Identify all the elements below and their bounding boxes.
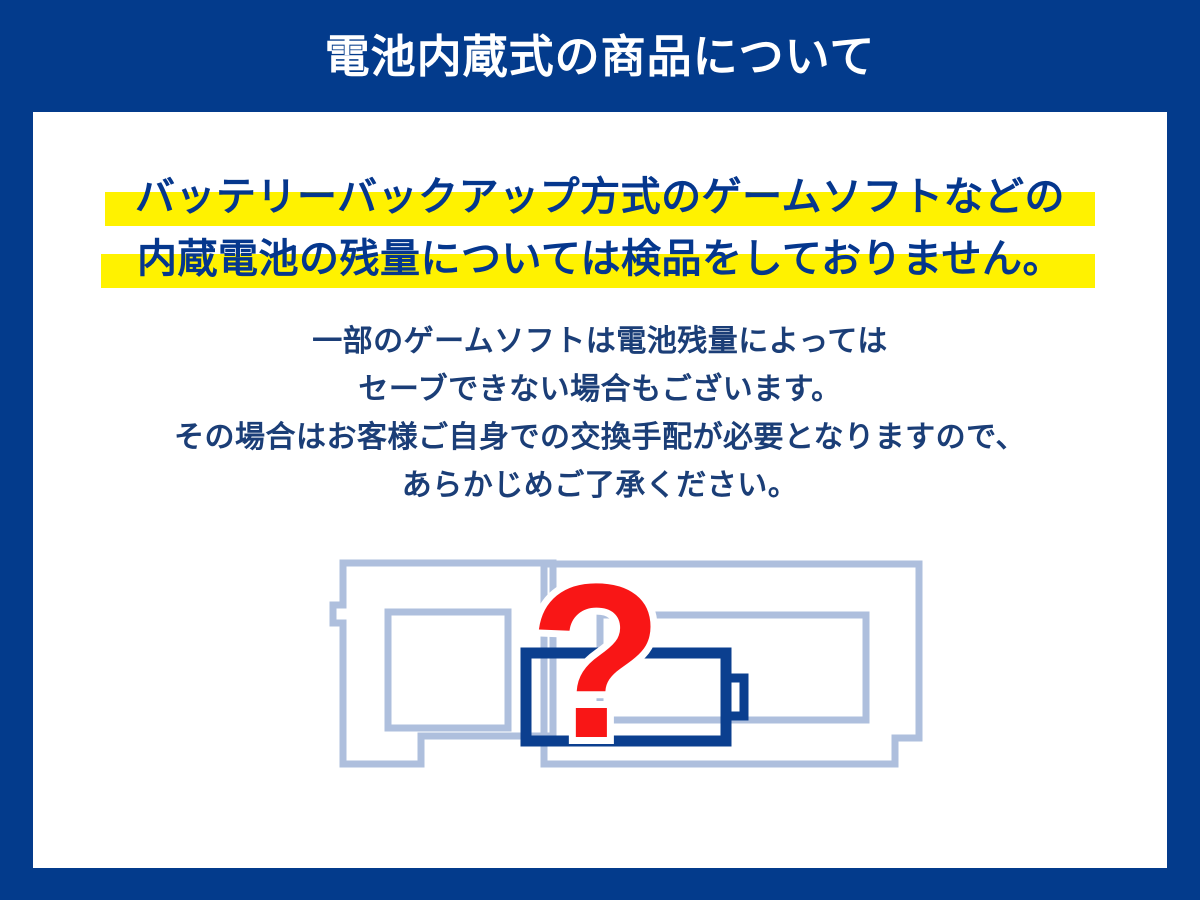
page-title: 電池内蔵式の商品について	[325, 34, 876, 79]
content-panel: バッテリーバックアップ方式のゲームソフトなどの 内蔵電池の残量については検品をし…	[33, 112, 1167, 868]
game-cartridge-left-icon	[333, 563, 553, 764]
header-bar: 電池内蔵式の商品について	[0, 0, 1200, 112]
body-line-2: セーブできない場合もございます。	[33, 366, 1167, 414]
body-line-4: あらかじめご了承ください。	[33, 462, 1167, 510]
question-mark-icon: ?	[529, 538, 663, 784]
headline-text-1: バッテリーバックアップ方式のゲームソフトなどの	[135, 175, 1065, 219]
body-paragraph: 一部のゲームソフトは電池残量によっては セーブできない場合もございます。 その場…	[33, 318, 1167, 510]
svg-text:?: ?	[529, 538, 663, 784]
headline-block: バッテリーバックアップ方式のゲームソフトなどの 内蔵電池の残量については検品をし…	[33, 166, 1167, 290]
battery-cartridge-illustration: ?	[300, 532, 960, 802]
headline-line-2: 内蔵電池の残量については検品をしておりません。	[33, 228, 1167, 290]
body-line-1: 一部のゲームソフトは電池残量によっては	[33, 318, 1167, 366]
slide-root: 電池内蔵式の商品について バッテリーバックアップ方式のゲームソフトなどの 内蔵電…	[0, 0, 1200, 900]
headline-line-1: バッテリーバックアップ方式のゲームソフトなどの	[33, 166, 1167, 228]
headline-text-2: 内蔵電池の残量については検品をしておりません。	[137, 237, 1063, 281]
body-line-3: その場合はお客様ご自身での交換手配が必要となりますので、	[33, 414, 1167, 462]
